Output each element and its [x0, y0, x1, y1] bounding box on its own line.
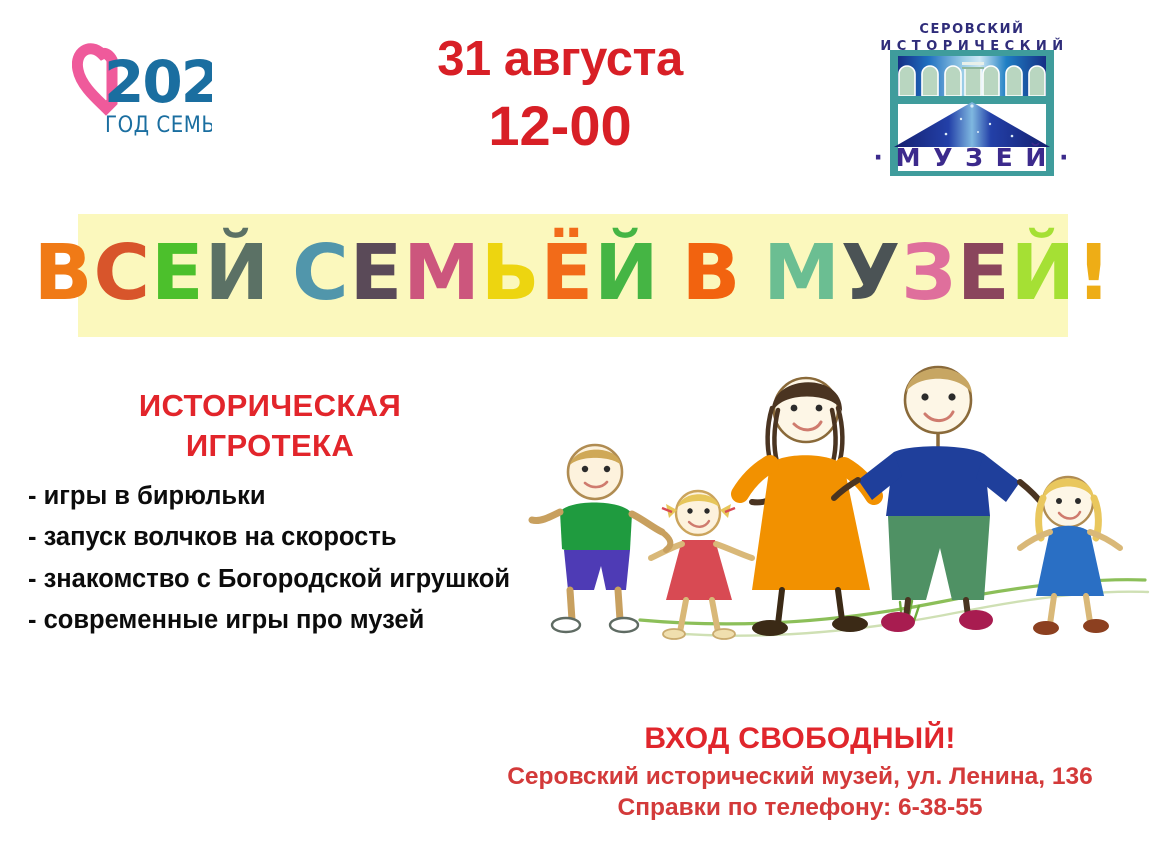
program-heading: ИСТОРИЧЕСКАЯ ИГРОТЕКА [20, 386, 520, 465]
banner-letter-17: Е [957, 235, 1011, 312]
year-of-family-logo: 2024 ГОД СЕМЬИ [72, 32, 212, 147]
banner-letter-0: В [34, 235, 94, 312]
banner-letter-12: В [682, 235, 742, 312]
year-text: 2024 [104, 48, 212, 116]
logo-bottom-bar [890, 171, 1054, 176]
banner-letter-7: М [403, 235, 481, 312]
event-time: 12-00 [390, 95, 730, 157]
banner-letter-9: Ё [541, 235, 595, 312]
figure-boy [532, 445, 662, 632]
event-date: 31 августа [390, 34, 730, 85]
banner-letter-18: Й [1011, 235, 1076, 312]
museum-logo-word: · М У З Е Й · [873, 143, 1070, 172]
banner-letter-3: Й [205, 235, 270, 312]
held-hands [662, 532, 670, 550]
banner-letter-10: Й [594, 235, 659, 312]
logo-mountain [894, 102, 1050, 147]
family-drawing-graphic [520, 352, 1150, 652]
museum-address: Серовский исторический музей, ул. Ленина… [450, 763, 1150, 791]
list-item: - современные игры про музей [28, 600, 528, 641]
year-of-family-logo-graphic: 2024 ГОД СЕМЬИ [72, 32, 212, 147]
figure-mother [740, 378, 874, 636]
banner-letter-8: Ь [481, 235, 541, 312]
banner-letter-14: М [763, 235, 841, 312]
logo-roof-bar [890, 50, 1054, 56]
banner: ВСЕЙСЕМЬЁЙВМУЗЕЙ! [78, 214, 1068, 337]
event-datetime: 31 августа 12-00 [390, 34, 730, 157]
banner-letter-1: С [94, 235, 152, 312]
banner-letter-5: С [292, 235, 350, 312]
list-item: - запуск волчков на скорость [28, 517, 528, 558]
event-poster: 2024 ГОД СЕМЬИ 31 августа 12-00 [0, 0, 1170, 844]
museum-phone: Справки по телефону: 6-38-55 [450, 794, 1150, 822]
list-item: - знакомство с Богородской игрушкой [28, 559, 528, 600]
year-of-family-caption: ГОД СЕМЬИ [105, 113, 212, 138]
list-item: - игры в бирюльки [28, 476, 528, 517]
museum-logo-graphic: СЕРОВСКИЙ И С Т О Р И Ч Е С К И Й [866, 14, 1078, 196]
museum-logo: СЕРОВСКИЙ И С Т О Р И Ч Е С К И Й [866, 14, 1078, 196]
figure-father [834, 367, 1044, 632]
program-list: - игры в бирюльки - запуск волчков на ск… [28, 476, 528, 641]
program-heading-line1: ИСТОРИЧЕСКАЯ [20, 386, 520, 426]
entry-free-text: ВХОД СВОБОДНЫЙ! [450, 722, 1150, 756]
family-drawing-illustration [520, 352, 1150, 652]
figure-older-girl [1020, 477, 1120, 635]
banner-letter-16: З [901, 235, 957, 312]
banner-letter-19: ! [1076, 235, 1112, 312]
banner-title: ВСЕЙСЕМЬЁЙВМУЗЕЙ! [34, 235, 1112, 316]
footer: ВХОД СВОБОДНЫЙ! Серовский исторический м… [450, 722, 1150, 822]
figure-little-girl [651, 491, 752, 639]
museum-logo-line1: СЕРОВСКИЙ [919, 21, 1024, 37]
logo-central-pillar [962, 62, 984, 96]
banner-letter-15: У [841, 235, 901, 312]
banner-letter-6: Е [350, 235, 404, 312]
program-heading-line2: ИГРОТЕКА [20, 426, 520, 466]
banner-letter-2: Е [151, 235, 205, 312]
